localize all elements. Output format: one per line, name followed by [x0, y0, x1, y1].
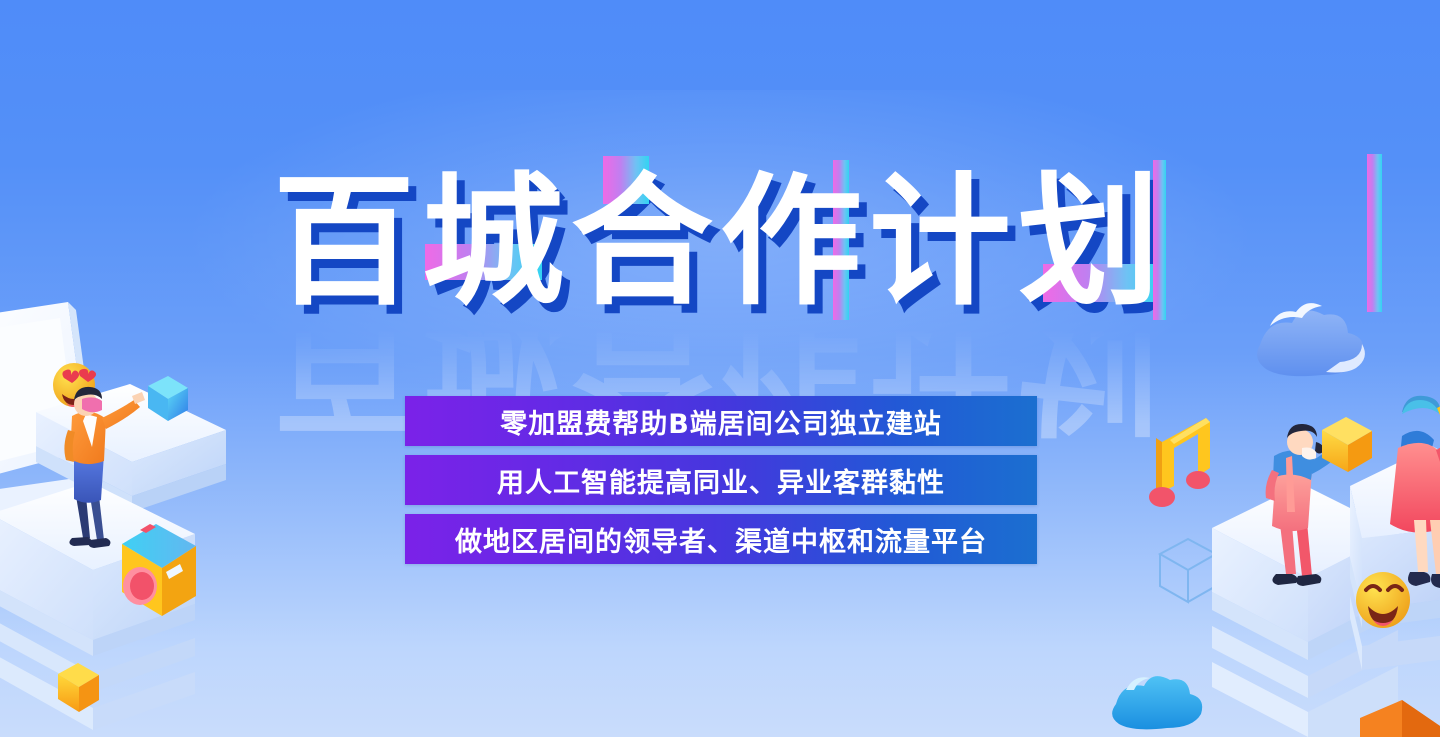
promotional-banner: 百城合作计划 百城合作计划 百城合作计划 零加盟费帮助B端居间公司独立建站 用人… — [0, 0, 1440, 737]
worker-carrying-box — [1266, 417, 1372, 586]
man-with-vr-headset — [64, 387, 145, 548]
platform-right — [1350, 446, 1440, 670]
headline-stack: 百城合作计划 百城合作计划 — [273, 168, 1167, 343]
wireframe-cube — [1160, 539, 1216, 602]
tagline-list: 零加盟费帮助B端居间公司独立建站 用人工智能提高同业、异业客群黏性 做地区居间的… — [405, 396, 1037, 564]
tagline-bar-3: 做地区居间的领导者、渠道中枢和流量平台 — [405, 514, 1037, 564]
tagline-text-2: 用人工智能提高同业、异业客群黏性 — [497, 461, 945, 500]
retro-camera — [122, 524, 196, 616]
music-note-icon — [1149, 418, 1210, 507]
platform-upper — [36, 384, 226, 512]
tagline-bar-2: 用人工智能提高同业、异业客群黏性 — [405, 455, 1037, 505]
glitch-band-6 — [1367, 154, 1382, 312]
tagline-text-3: 做地区居间的领导者、渠道中枢和流量平台 — [455, 520, 987, 559]
platform-center — [1212, 484, 1398, 737]
bright-blue-cloud — [1112, 676, 1202, 729]
tagline-text-1: 零加盟费帮助B端居间公司独立建站 — [500, 402, 942, 441]
headline-text: 百城合作计划 — [273, 168, 1167, 318]
orange-wedge — [1360, 700, 1440, 737]
headline-group: 百城合作计划 百城合作计划 — [0, 168, 1440, 348]
smiling-emoji — [1356, 572, 1410, 628]
platform-lower — [0, 482, 195, 730]
woman-in-coral-dress — [1390, 396, 1440, 588]
heart-eyes-emoji — [53, 363, 96, 407]
right-illustration — [1140, 290, 1440, 737]
tagline-bar-1: 零加盟费帮助B端居间公司独立建站 — [405, 396, 1037, 446]
cyan-cube — [148, 376, 188, 421]
left-illustration — [0, 300, 240, 737]
yellow-cube — [58, 663, 99, 712]
